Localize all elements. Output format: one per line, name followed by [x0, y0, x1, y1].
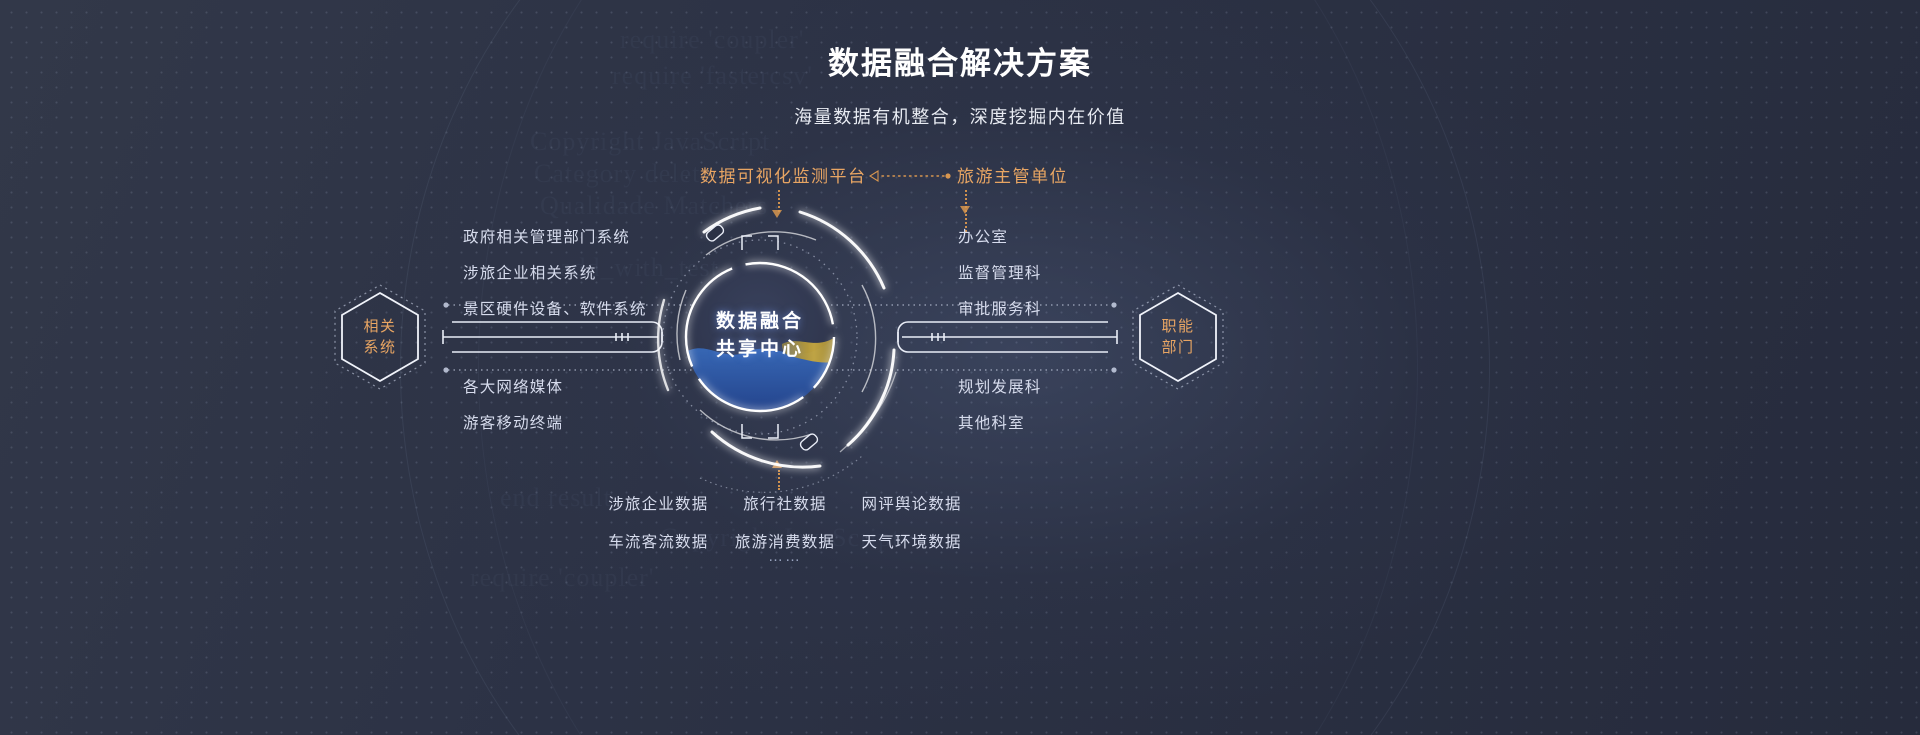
list-item[interactable]: 涉旅企业相关系统 — [463, 261, 647, 283]
code-line: Copyright JavaScript — [530, 124, 770, 160]
right-pipe-ticks — [932, 333, 944, 341]
core-lower-solid-arcs — [840, 372, 896, 452]
left-pipe-ticks — [616, 333, 628, 341]
code-line: Qualidade Matchers — [540, 188, 768, 224]
node-functional-departments[interactable]: 职能 部门 — [1130, 283, 1226, 391]
page-subtitle: 海量数据有机整合，深度挖掘内在价值 — [0, 103, 1920, 129]
list-item[interactable]: 各大网络媒体 — [463, 375, 563, 397]
bottom-data-sources-grid: 涉旅企业数据 旅行社数据 网评舆论数据 车流客流数据 旅游消费数据 天气环境数据 — [595, 492, 975, 552]
orbit-capsule-top — [705, 223, 725, 242]
grid-item[interactable]: 旅行社数据 — [722, 492, 849, 514]
left-sources-bottom-list: 各大网络媒体 游客移动终端 — [463, 375, 563, 433]
core-label-line2: 共享中心 — [689, 336, 831, 364]
list-item[interactable]: 规划发展科 — [958, 375, 1042, 397]
core-label-line1: 数据融合 — [689, 308, 831, 336]
code-line: Category delete — [534, 156, 713, 192]
left-sources-top-list: 政府相关管理部门系统 涉旅企业相关系统 景区硬件设备、软件系统 — [463, 225, 647, 319]
grid-item[interactable]: 网评舆论数据 — [848, 492, 975, 514]
triangle-marker-bottom — [772, 460, 782, 468]
node-left-line2: 系统 — [363, 337, 396, 358]
triangle-marker-right — [960, 206, 970, 214]
node-right-line2: 部门 — [1161, 337, 1194, 358]
node-left-line1: 相关 — [363, 316, 396, 337]
list-item[interactable]: 游客移动终端 — [463, 411, 563, 433]
list-item[interactable]: 政府相关管理部门系统 — [463, 225, 647, 247]
list-item[interactable]: 景区硬件设备、软件系统 — [463, 297, 647, 319]
node-right-line1: 职能 — [1161, 316, 1194, 337]
triangle-marker-left — [772, 210, 782, 218]
dotted-drop-left — [778, 190, 790, 212]
node-functional-departments-label: 职能 部门 — [1130, 283, 1226, 391]
node-related-systems-label: 相关 系统 — [332, 283, 428, 391]
node-related-systems[interactable]: 相关 系统 — [332, 283, 428, 391]
right-pipe-channel — [898, 322, 1117, 352]
left-pipe-channel — [443, 322, 662, 352]
label-visualization-platform[interactable]: 数据可视化监测平台 — [700, 162, 867, 187]
page-title: 数据融合解决方案 — [0, 38, 1920, 83]
list-item[interactable]: 审批服务科 — [958, 297, 1042, 319]
label-tourism-authority[interactable]: 旅游主管单位 — [957, 162, 1068, 187]
right-departments-top-list: 办公室 监督管理科 审批服务科 — [958, 225, 1042, 319]
dotted-drop-bottom — [778, 470, 790, 490]
grid-item[interactable]: 涉旅企业数据 — [595, 492, 722, 514]
orbit-capsule-bottom — [799, 432, 819, 451]
list-item[interactable]: 办公室 — [958, 225, 1042, 247]
code-line: require 'coupler' — [470, 560, 654, 596]
connector-arrow-platform-to-authority — [869, 170, 953, 182]
bottom-grid-ellipsis: …… — [595, 548, 975, 565]
solution-diagram-canvas: require 'coupler' require 'fastercsv' Co… — [0, 0, 1920, 735]
right-departments-bottom-list: 规划发展科 其他科室 — [958, 375, 1042, 433]
list-item[interactable]: 其他科室 — [958, 411, 1042, 433]
header: 数据融合解决方案 海量数据有机整合，深度挖掘内在价值 — [0, 0, 1920, 129]
core-label: 数据融合 共享中心 — [689, 308, 831, 364]
list-item[interactable]: 监督管理科 — [958, 261, 1042, 283]
